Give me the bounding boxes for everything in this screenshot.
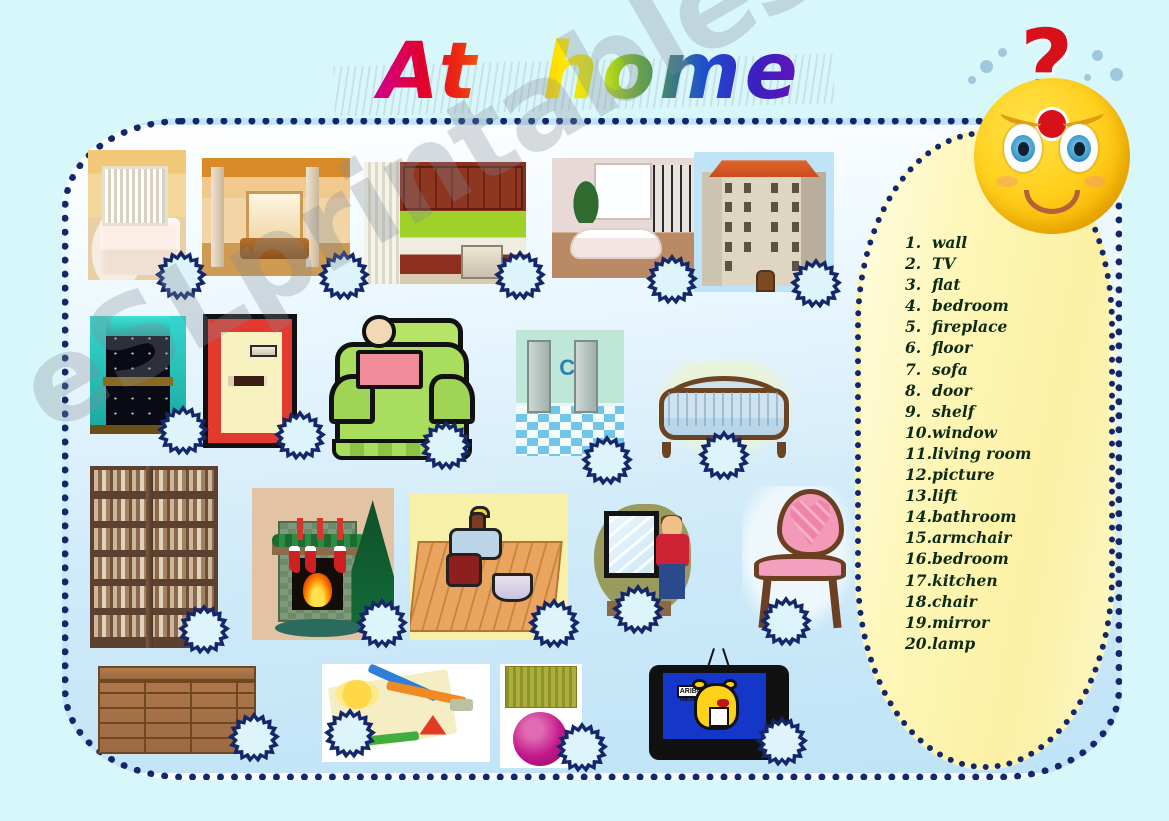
answer-marker-mirror[interactable] xyxy=(612,584,664,636)
answer-marker-bathroom[interactable] xyxy=(646,254,698,306)
answer-marker-wall[interactable] xyxy=(228,712,280,764)
answer-marker-kitchen[interactable] xyxy=(494,250,546,302)
thought-bubble xyxy=(1110,68,1123,81)
thought-bubble xyxy=(980,60,993,73)
frowning-mouth xyxy=(1024,190,1080,214)
word-number: 10. xyxy=(905,422,932,443)
sofa-shape xyxy=(240,238,308,259)
word-label: living room xyxy=(932,443,1031,464)
word-bank-item: 3.flat xyxy=(905,274,1095,295)
answer-marker-armchair[interactable] xyxy=(420,420,472,472)
hearth-rug xyxy=(275,619,363,637)
answer-marker-door[interactable] xyxy=(274,410,326,462)
word-bank-item: 14.bathroom xyxy=(905,506,1095,527)
answer-marker-bedroom[interactable] xyxy=(155,250,207,302)
chair-seat xyxy=(754,554,847,581)
word-bank-item: 2.TV xyxy=(905,253,1095,274)
door-panel xyxy=(221,332,282,433)
word-bank-item: 18.chair xyxy=(905,591,1095,612)
tv-screen: ARIBO NEWS xyxy=(663,673,766,740)
iris-left xyxy=(1011,135,1035,162)
confused-smiley-mascot: ? xyxy=(962,18,1142,243)
answer-marker-picture[interactable] xyxy=(324,708,376,760)
eye-right xyxy=(1060,124,1098,172)
sofa-leg-left xyxy=(662,442,671,458)
word-number: 6. xyxy=(905,337,932,358)
word-number: 4. xyxy=(905,295,932,316)
answer-marker-sofa[interactable] xyxy=(698,430,750,482)
wall-coping xyxy=(98,666,256,681)
iris-right xyxy=(1067,135,1091,162)
word-bank-item: 7.sofa xyxy=(905,359,1095,380)
answer-marker-window[interactable] xyxy=(157,405,209,457)
letterbox-shape xyxy=(250,345,277,357)
word-number: 7. xyxy=(905,359,932,380)
answer-marker-fireplace[interactable] xyxy=(356,598,408,650)
answer-marker-chair[interactable] xyxy=(760,596,812,648)
word-label: bedroom xyxy=(932,295,1009,316)
word-bank-item: 16.bedroom xyxy=(905,548,1095,569)
word-label: floor xyxy=(932,337,972,358)
answer-marker-floor[interactable] xyxy=(528,598,580,650)
bear-script xyxy=(709,707,730,727)
cheek-right xyxy=(1084,176,1106,187)
word-label: picture xyxy=(932,464,995,485)
building-entrance xyxy=(756,270,776,292)
word-label: mirror xyxy=(932,612,989,633)
word-number: 18. xyxy=(905,591,932,612)
bear-bowtie xyxy=(717,699,729,707)
column-left xyxy=(211,167,224,266)
book-shape xyxy=(356,350,423,388)
word-bank-item: 5.fireplace xyxy=(905,316,1095,337)
word-bank-item: 11.living room xyxy=(905,443,1095,464)
word-label: flat xyxy=(932,274,960,295)
word-number: 8. xyxy=(905,380,932,401)
word-number: 19. xyxy=(905,612,932,633)
word-bank-item: 4.bedroom xyxy=(905,295,1095,316)
thought-bubble xyxy=(1084,74,1091,81)
word-label: chair xyxy=(932,591,977,612)
window-sill xyxy=(103,377,172,385)
word-bank-item: 13.lift xyxy=(905,485,1095,506)
eraser-shape xyxy=(450,699,474,711)
word-label: sofa xyxy=(932,359,968,380)
word-number: 14. xyxy=(905,506,932,527)
room-divider-shape xyxy=(653,165,697,232)
word-number: 3. xyxy=(905,274,932,295)
word-number: 5. xyxy=(905,316,932,337)
word-number: 16. xyxy=(905,548,932,569)
word-number: 13. xyxy=(905,485,932,506)
eye-left xyxy=(1004,124,1042,172)
fire-flame xyxy=(303,573,331,606)
word-label: armchair xyxy=(932,527,1011,548)
curtain-left xyxy=(90,316,106,434)
armchair-arm-right xyxy=(429,374,475,424)
cleaner-shirt xyxy=(656,534,688,567)
word-label: door xyxy=(932,380,972,401)
lift-door-left xyxy=(527,340,551,413)
word-number: 9. xyxy=(905,401,932,422)
building-roof xyxy=(698,160,830,177)
word-label: lamp xyxy=(932,633,975,654)
word-bank-item: 6.floor xyxy=(905,337,1095,358)
mirror-shine xyxy=(609,516,654,573)
plant-shape xyxy=(570,175,603,223)
lift-sign: C xyxy=(559,355,575,381)
word-bank-item: 10.window xyxy=(905,422,1095,443)
pupil-left xyxy=(1018,142,1029,156)
word-bank-item: 9.shelf xyxy=(905,401,1095,422)
word-label: bedroom xyxy=(932,548,1009,569)
worksheet-canvas: At home xyxy=(0,0,1169,821)
word-number: 2. xyxy=(905,253,932,274)
word-label: lift xyxy=(932,485,958,506)
word-bank-item: 19.mirror xyxy=(905,612,1095,633)
word-bank-item: 12.picture xyxy=(905,464,1095,485)
window-shape xyxy=(596,165,649,218)
answer-marker-shelf[interactable] xyxy=(178,604,230,656)
answer-marker-living-room[interactable] xyxy=(318,250,370,302)
page-title: At home xyxy=(330,22,850,122)
thought-bubble xyxy=(1092,50,1103,61)
word-number: 11. xyxy=(905,443,932,464)
answer-marker-flat[interactable] xyxy=(790,258,842,310)
word-label: bathroom xyxy=(932,506,1017,527)
word-bank-item: 17.kitchen xyxy=(905,570,1095,591)
word-bank-item: 15.armchair xyxy=(905,527,1095,548)
pupil-right xyxy=(1074,142,1085,156)
sofa-tufting xyxy=(668,392,780,426)
lift-door-right xyxy=(574,340,598,413)
word-number: 1. xyxy=(905,232,932,253)
word-number: 12. xyxy=(905,464,932,485)
word-bank-item: 20.lamp xyxy=(905,633,1095,654)
cheek-left xyxy=(996,176,1018,187)
word-label: fireplace xyxy=(932,316,1007,337)
lamp-shade xyxy=(505,666,577,708)
thought-bubble xyxy=(968,76,976,84)
mirror-frame xyxy=(604,511,659,578)
word-number: 15. xyxy=(905,527,932,548)
word-bank-item: 8.door xyxy=(905,380,1095,401)
word-number: 20. xyxy=(905,633,932,654)
word-label: window xyxy=(932,422,997,443)
shelf-divider xyxy=(146,466,152,648)
chair-leg-right xyxy=(829,577,842,628)
sofa-leg-right xyxy=(777,442,786,458)
smiley-face xyxy=(974,78,1130,234)
word-bank-list: 1.wall2.TV3.flat4.bedroom5.fireplace6.fl… xyxy=(905,232,1095,654)
reader-head xyxy=(362,315,395,348)
word-label: shelf xyxy=(932,401,974,422)
word-number: 17. xyxy=(905,570,932,591)
word-label: kitchen xyxy=(932,570,998,591)
answer-marker-lift[interactable] xyxy=(581,435,633,487)
answer-marker-tv[interactable] xyxy=(756,716,808,768)
thought-bubble xyxy=(998,48,1007,57)
door-handle xyxy=(228,376,267,385)
archway-shape xyxy=(246,191,302,243)
sun-drawing xyxy=(335,680,379,709)
cabinets-shape xyxy=(403,166,523,210)
word-label: TV xyxy=(932,253,956,274)
worker-trousers xyxy=(446,553,482,587)
answer-marker-lamp[interactable] xyxy=(556,722,608,774)
